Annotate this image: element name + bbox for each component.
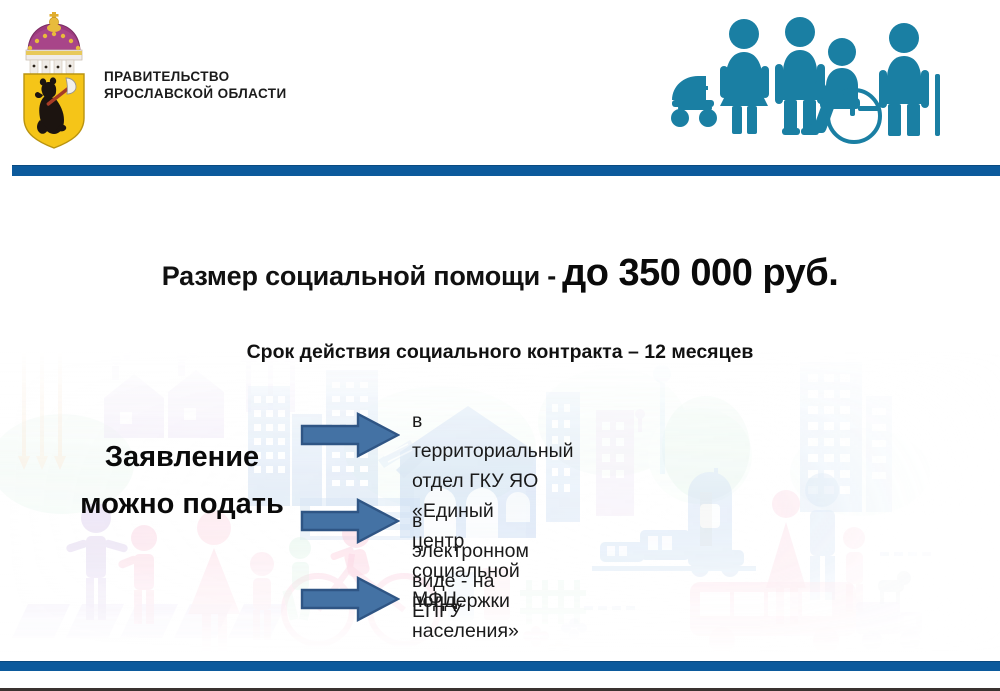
organization-title: ПРАВИТЕЛЬСТВО ЯРОСЛАВСКОЙ ОБЛАСТИ xyxy=(104,68,287,102)
footer-divider-bar xyxy=(0,661,1000,671)
yaroslavl-coat-of-arms-icon xyxy=(14,8,94,150)
slide-body: Размер социальной помощи -до 350 000 руб… xyxy=(0,176,1000,661)
social-support-people-icon xyxy=(662,8,952,150)
slide-canvas: ПРАВИТЕЛЬСТВО ЯРОСЛАВСКОЙ ОБЛАСТИ xyxy=(0,0,1000,691)
headline-lead-text: Размер социальной помощи - xyxy=(162,261,556,291)
apply-label: Заявление можно подать xyxy=(72,434,292,528)
headline-amount-text: до 350 000 руб. xyxy=(562,252,838,294)
slide-header: ПРАВИТЕЛЬСТВО ЯРОСЛАВСКОЙ ОБЛАСТИ xyxy=(0,0,1000,160)
route-option-text: МФЦ xyxy=(412,584,457,614)
arrow-right-icon xyxy=(300,412,400,458)
header-divider-bar xyxy=(12,165,1000,176)
arrow-right-icon xyxy=(300,576,400,622)
arrow-right-icon xyxy=(300,498,400,544)
headline: Размер социальной помощи -до 350 000 руб… xyxy=(0,252,1000,295)
subheadline: Срок действия социального контракта – 12… xyxy=(0,341,1000,364)
